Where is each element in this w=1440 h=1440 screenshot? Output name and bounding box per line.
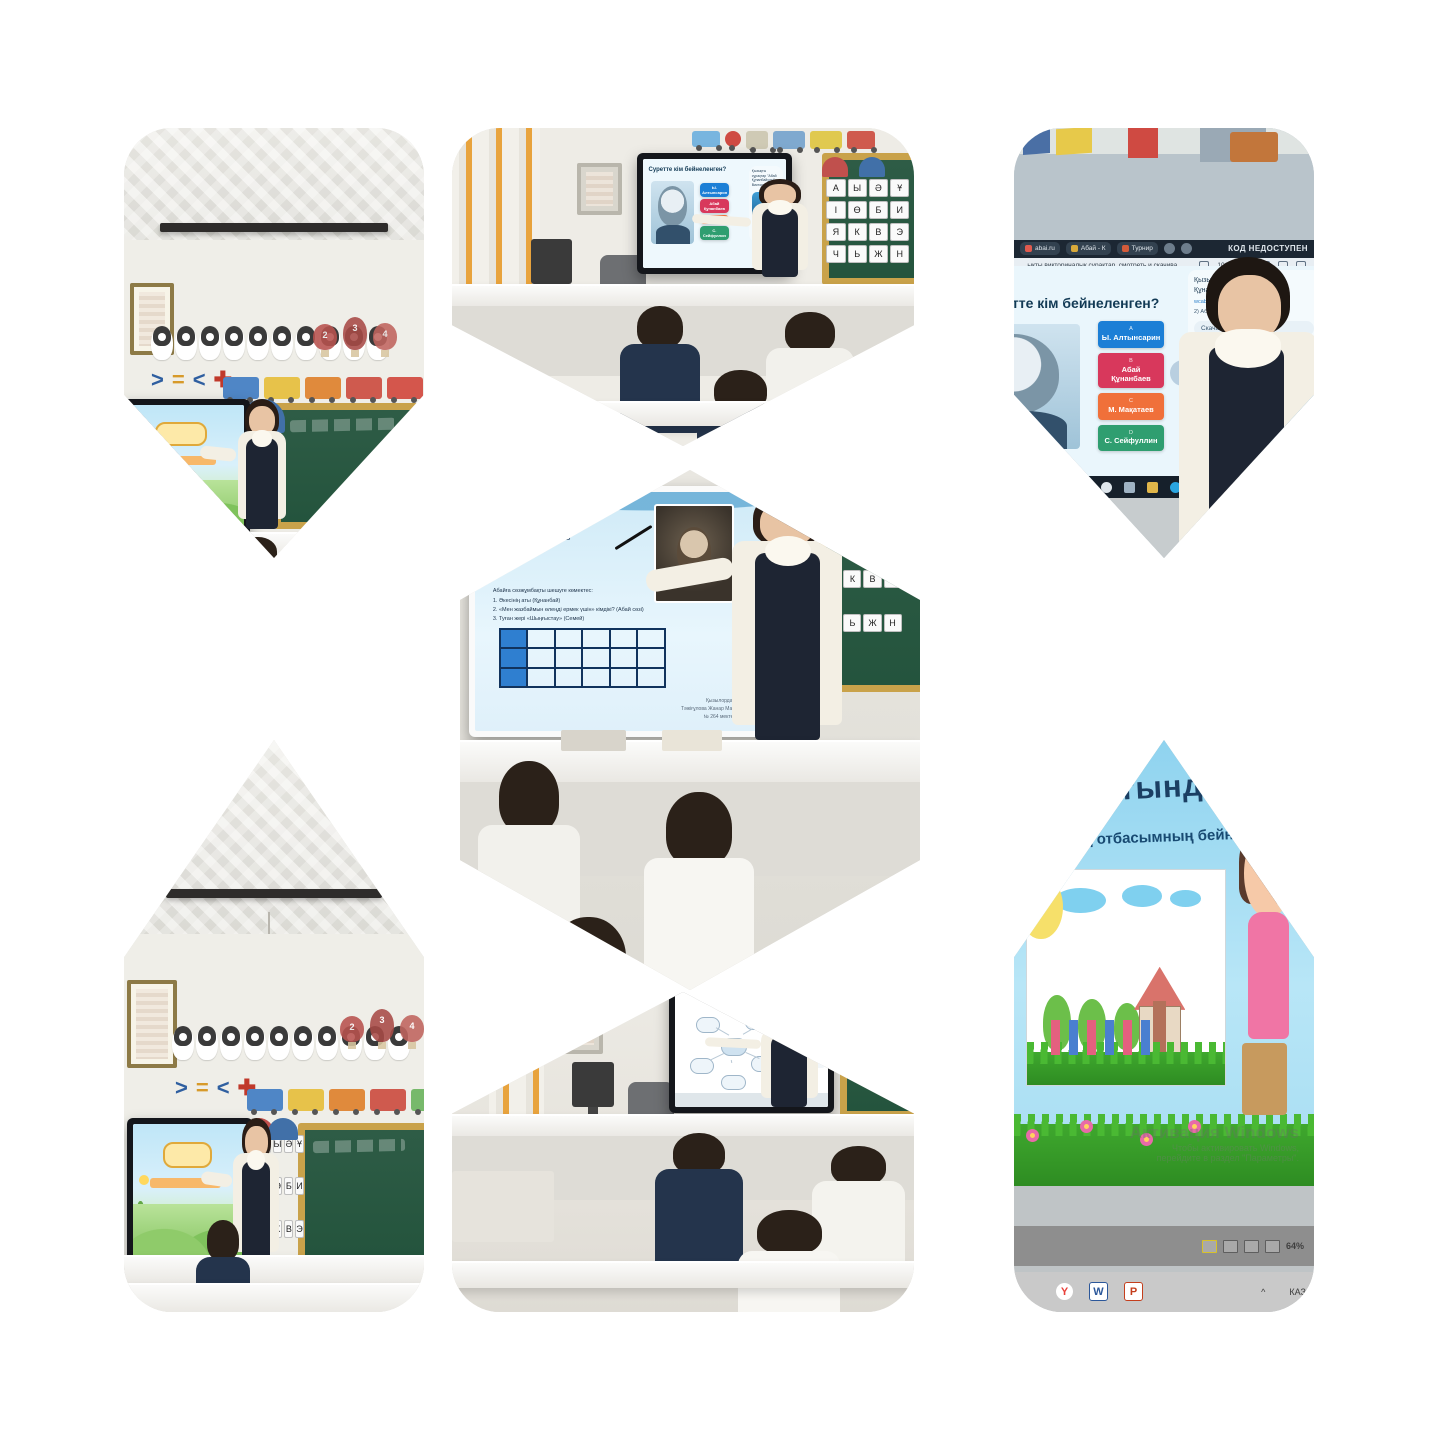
tile-bottom-right[interactable]: Қорытынды «Менің отбасымның бейнесі» (1014, 740, 1314, 1312)
tree-graphic (126, 477, 137, 525)
balloon-number-strip: 2 3 4 (313, 317, 397, 350)
pupil-seated (644, 792, 754, 990)
tile-bottom-middle[interactable]: АЫӘҰ ІӨБИ ЯКВЭ (452, 992, 914, 1312)
slide-title: Қорытынды (1031, 766, 1231, 812)
stool-illustration (1242, 1043, 1287, 1114)
search-icon[interactable] (1101, 482, 1112, 493)
teacher (727, 491, 847, 741)
zoom-level: 64% (1286, 1241, 1304, 1251)
yurt-poster-red (822, 157, 848, 177)
quiz-option-a[interactable]: Ы. Алтынсарин (700, 183, 729, 197)
abai-portrait (1014, 324, 1080, 449)
pupil-seated (655, 1133, 743, 1274)
chalkboard (274, 403, 424, 529)
quiz-option-c[interactable]: C М. Мақатаев (1098, 393, 1164, 419)
teacher (757, 1005, 822, 1114)
taskview-icon[interactable] (1124, 482, 1135, 493)
balloon-number-strip: 2 3 4 5 (340, 1009, 424, 1042)
board-screen: Абай Құнанбаев Абайға сөзжұмбақты шешуге… (475, 492, 769, 731)
wall-box (577, 163, 622, 216)
quiz-option-d[interactable]: С. Сейфуллин (700, 226, 729, 240)
pupil-desk (452, 401, 914, 425)
wall-box (558, 1002, 603, 1055)
windows-taskbar[interactable] (1014, 476, 1314, 498)
tile-top-middle[interactable]: Суретте кім бейнеленген? Ы. Алтынсарин А… (452, 128, 914, 446)
tile-bottom-left[interactable]: 2 3 4 5 >= <✚ АЫӘҰ ІӨБИ (124, 740, 424, 1312)
conclusion-slide: Қорытынды «Менің отбасымның бейнесі» (1014, 740, 1314, 1186)
slide-banner (155, 422, 207, 446)
quiz-option-b[interactable]: Абай Құнанбаев (700, 199, 729, 213)
collage-canvas: 2 3 4 >= <✚ − АЫӘҰ (0, 0, 1440, 1440)
grass-drawing (1027, 1052, 1225, 1084)
slide-sorter-icon[interactable] (1223, 1240, 1238, 1253)
pupil-head (316, 537, 355, 559)
ceiling-rail (160, 223, 388, 232)
pupil-seated (534, 917, 644, 990)
pupil-head (238, 537, 277, 559)
yurt-poster-blue (859, 157, 885, 177)
pupil-desk (452, 1261, 914, 1289)
slideshow-icon[interactable] (1265, 1240, 1280, 1253)
explorer-icon[interactable] (1147, 482, 1158, 493)
pupil-seated (478, 761, 579, 990)
board-bezel (1014, 498, 1314, 558)
wall-poster (127, 980, 177, 1068)
browser-tab[interactable]: abai.ru (1020, 242, 1060, 255)
alphabet-letter-grid: АЫӘҰ ІӨБИ ЯКВЭ ЧЬЖН (826, 179, 909, 265)
abai-portrait (651, 181, 694, 244)
slide-subtitle: «Менің отбасымның бейнесі» (1041, 825, 1263, 850)
reading-view-icon[interactable] (1244, 1240, 1259, 1253)
tile-top-right[interactable]: abai.ru Абай - К Турнир КОД НЕДОСТУПЕН .… (1014, 128, 1314, 558)
windows-start-icon[interactable] (1078, 482, 1089, 493)
quiz-question: Суретте кім бейнеленген? (1014, 295, 1159, 311)
tray-chevron-icon[interactable]: ^ (1261, 1287, 1265, 1297)
crossword-grid (499, 628, 666, 687)
code-unavailable-label: КОД НЕДОСТУПЕН (1228, 244, 1308, 253)
desktop-monitor (531, 239, 573, 284)
mindmap-node (745, 1015, 768, 1031)
browser-tab[interactable]: Абай - К (1066, 242, 1111, 255)
quiz-option-b[interactable]: B Абай Құнанбаев (1098, 353, 1164, 389)
mindmap-node (690, 1058, 713, 1074)
windows-activation-watermark: Активация Windows Чтобы активировать Win… (1130, 1123, 1299, 1163)
ceiling-rail (166, 889, 382, 898)
browser-tab[interactable]: Турнир (1117, 242, 1158, 255)
sun-graphic (139, 1175, 149, 1185)
powerpoint-icon[interactable]: P (1124, 1282, 1143, 1301)
desktop-monitor (572, 1062, 614, 1107)
sun-graphic (130, 453, 141, 464)
slide-banner (163, 1142, 213, 1167)
teacher (232, 399, 292, 545)
side-desk (452, 1171, 554, 1241)
train-card-strip (223, 377, 424, 399)
powerpoint-status-bar[interactable]: 64% (1014, 1226, 1314, 1266)
family-drawing (1026, 869, 1226, 1085)
board-screen (124, 405, 244, 538)
slide-title: Абай Құнанбаев (499, 532, 571, 542)
quiz-options[interactable]: A Ы. Алтынсарин B Абай Құнанбаев C М. Ма… (1098, 321, 1164, 450)
browser-tab-strip[interactable]: abai.ru Абай - К Турнир КОД НЕДОСТУПЕН (1014, 240, 1314, 258)
teacher (748, 179, 813, 287)
yandex-browser-icon[interactable]: Y (1056, 1283, 1073, 1300)
quiz-option-a[interactable]: A Ы. Алтынсарин (1098, 321, 1164, 347)
family-figures-drawing (1051, 1020, 1154, 1054)
chalkboard-left (452, 992, 503, 1083)
tile-center[interactable]: АЫӘҰ ІӨБИ ЯКВЭ ЧЬЖН Абай Құнанбаев Абайғ… (460, 470, 920, 990)
alphabet-letter-grid: АЫӘҰ ІӨБИ ЯКВЭ (849, 1005, 914, 1088)
quiz-options[interactable]: Ы. Алтынсарин Абай Құнанбаев М. Мақатаев… (700, 183, 729, 240)
chalkboard (840, 992, 914, 1118)
teacher (1170, 257, 1314, 558)
train-card-strip (247, 1089, 424, 1111)
front-desk (124, 1255, 424, 1286)
sun-drawing (1019, 875, 1063, 939)
tile-top-left[interactable]: 2 3 4 >= <✚ − АЫӘҰ (124, 128, 424, 558)
telegram-icon[interactable] (1239, 482, 1250, 493)
quiz-option-d[interactable]: D С. Сейфуллин (1098, 425, 1164, 451)
flower-decor (1080, 1120, 1093, 1133)
wall-decor-strip (692, 131, 875, 149)
quiz-question: Суретте кім бейнеленген? (649, 167, 727, 173)
notebook-on-desk (561, 730, 625, 751)
word-icon[interactable]: W (1089, 1282, 1108, 1301)
add-tab-icon[interactable] (1164, 243, 1175, 254)
slide-questions: Абайға сөзжұмбақты шешуге көмектес: 1. Ә… (493, 587, 676, 624)
math-symbol-strip: >= <✚ (175, 1077, 256, 1099)
flower-decor (1026, 1129, 1039, 1142)
language-indicator[interactable]: КАЗ (1289, 1287, 1306, 1297)
windows-taskbar[interactable]: Y W P ^ КАЗ (1014, 1272, 1314, 1312)
normal-view-icon[interactable] (1202, 1240, 1217, 1253)
mindmap-node (721, 1075, 746, 1091)
profile-icon[interactable] (1181, 243, 1192, 254)
teacher-desk (452, 284, 914, 308)
mindmap-node (696, 1017, 719, 1033)
chalkboard (298, 1123, 424, 1263)
book-on-desk (662, 730, 722, 751)
pupil-desk (124, 1283, 424, 1312)
